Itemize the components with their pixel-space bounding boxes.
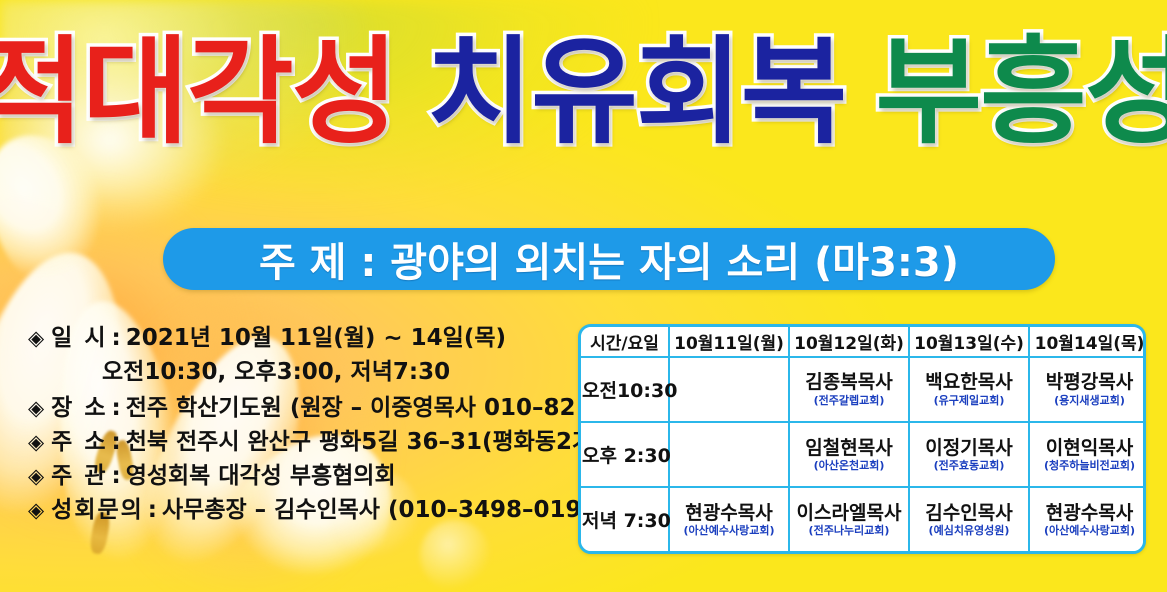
schedule-row: 오전10:30김종복목사(전주갈렙교회)백요한목사(유구제일교회)박평강목사(용…: [581, 357, 1146, 422]
title-word-healing-restoration: 치유회복: [426, 34, 845, 152]
speaker-block: 백요한목사(유구제일교회): [911, 372, 1027, 406]
speaker-church: (아산예수사랑교회): [1044, 525, 1135, 537]
info-separator: :: [111, 431, 120, 454]
schedule-row: 저녁 7:30현광수목사(아산예수사랑교회)이스라엘목사(전주나누리교회)김수인…: [581, 487, 1146, 551]
info-label: 주 관: [51, 465, 107, 488]
speaker-name: 김수인목사: [925, 503, 1012, 524]
info-line: ◈주 소:천북 전주시 완산구 평화5길 36–31(평화동2가 49–9): [28, 431, 573, 454]
speaker-name: 현광수목사: [1046, 503, 1133, 524]
info-separator: :: [148, 499, 157, 522]
info-label: 일 시: [51, 327, 107, 350]
speaker-block: 박평강목사(용지새생교회): [1031, 372, 1146, 406]
schedule-time-label: 오후 2:30: [582, 445, 671, 467]
speaker-block: 현광수목사(아산예수사랑교회): [671, 503, 787, 537]
info-separator: :: [111, 465, 120, 488]
subtitle-text: 주 제 : 광야의 외치는 자의 소리 (마3:3): [259, 230, 959, 288]
schedule-empty-cell: [671, 450, 787, 460]
revival-meeting-poster: 영적대각성 치유회복 부흥성회 주 제 : 광야의 외치는 자의 소리 (마3:…: [0, 0, 1167, 592]
info-line: ◈장 소:전주 학산기도원 (원장 – 이중영목사 010–8210–9911): [28, 397, 573, 420]
speaker-name: 이현익목사: [1046, 438, 1133, 459]
info-value: 사무총장 – 김수인목사 (010–3498–0191): [162, 499, 608, 522]
speaker-block: 임철현목사(아산온천교회): [791, 438, 907, 472]
diamond-bullet-icon: ◈: [28, 432, 44, 453]
diamond-bullet-icon: ◈: [28, 466, 44, 487]
speaker-church: (아산예수사랑교회): [683, 525, 774, 537]
info-label: 장 소: [51, 397, 107, 420]
info-value: 2021년 10월 11일(월) ~ 14일(목): [126, 327, 506, 350]
schedule-time-cell: 오후 2:30: [581, 422, 669, 487]
schedule-speaker-cell: 김종복목사(전주갈렙교회): [789, 357, 909, 422]
speaker-block: 이정기목사(전주효동교회): [911, 438, 1027, 472]
speaker-name: 김종복목사: [805, 372, 892, 393]
schedule-table: 시간/요일10월11일(월)10월12일(화)10월13일(수)10월14일(목…: [578, 324, 1146, 554]
title-word-revival-meeting: 부흥성회: [875, 34, 1167, 152]
schedule-column-header: 10월12일(화): [789, 327, 909, 357]
info-value: 오전10:30, 오후3:00, 저녁7:30: [102, 361, 450, 384]
info-separator: :: [111, 327, 120, 350]
schedule-column-header-label: 10월12일(화): [794, 334, 904, 354]
speaker-church: (예심치유영성원): [929, 525, 1010, 537]
schedule-speaker-cell: 김수인목사(예심치유영성원): [909, 487, 1029, 551]
speaker-block: 이스라엘목사(전주나누리교회): [791, 503, 907, 537]
schedule-column-header-label: 10월11일(월): [674, 334, 784, 354]
info-line: 오전10:30, 오후3:00, 저녁7:30: [28, 361, 573, 384]
schedule-column-header: 10월14일(목): [1029, 327, 1146, 357]
speaker-block: 김종복목사(전주갈렙교회): [791, 372, 907, 406]
speaker-name: 이스라엘목사: [797, 503, 902, 524]
info-label: 성회문의: [51, 499, 144, 522]
info-line: ◈일 시:2021년 10월 11일(월) ~ 14일(목): [28, 327, 573, 350]
speaker-block: 김수인목사(예심치유영성원): [911, 503, 1027, 537]
schedule-speaker-cell: 이스라엘목사(전주나누리교회): [789, 487, 909, 551]
schedule-speaker-cell: 박평강목사(용지새생교회): [1029, 357, 1146, 422]
speaker-name: 이정기목사: [925, 438, 1012, 459]
schedule-header-row: 시간/요일10월11일(월)10월12일(화)10월13일(수)10월14일(목…: [581, 327, 1146, 357]
schedule-grid: 시간/요일10월11일(월)10월12일(화)10월13일(수)10월14일(목…: [581, 327, 1146, 551]
speaker-name: 임철현목사: [805, 438, 892, 459]
subtitle-banner: 주 제 : 광야의 외치는 자의 소리 (마3:3): [163, 228, 1055, 290]
event-info-list: ◈일 시:2021년 10월 11일(월) ~ 14일(목)오전10:30, 오…: [28, 327, 573, 533]
speaker-name: 백요한목사: [925, 372, 1012, 393]
speaker-church: (청주하늘비전교회): [1044, 460, 1135, 472]
schedule-empty-cell: [671, 385, 787, 395]
info-label: 주 소: [51, 431, 107, 454]
diamond-bullet-icon: ◈: [28, 328, 44, 349]
schedule-speaker-cell: 현광수목사(아산예수사랑교회): [669, 487, 789, 551]
schedule-time-cell: 저녁 7:30: [581, 487, 669, 551]
info-line: ◈주 관:영성회복 대각성 부흥협의회: [28, 465, 573, 488]
schedule-time-label: 오전10:30: [582, 380, 677, 402]
speaker-name: 현광수목사: [685, 503, 772, 524]
speaker-church: (유구제일교회): [934, 395, 1005, 407]
speaker-church: (전주갈렙교회): [814, 395, 885, 407]
schedule-column-header: 시간/요일: [581, 327, 669, 357]
info-value: 영성회복 대각성 부흥협의회: [126, 465, 396, 488]
schedule-column-header-label: 10월14일(목): [1035, 334, 1145, 354]
schedule-body: 오전10:30김종복목사(전주갈렙교회)백요한목사(유구제일교회)박평강목사(용…: [581, 357, 1146, 551]
speaker-church: (전주나누리교회): [809, 525, 890, 537]
poster-title: 영적대각성 치유회복 부흥성회: [0, 34, 1167, 152]
schedule-column-header: 10월11일(월): [669, 327, 789, 357]
schedule-speaker-cell: 임철현목사(아산온천교회): [789, 422, 909, 487]
schedule-row: 오후 2:30임철현목사(아산온천교회)이정기목사(전주효동교회)이현익목사(청…: [581, 422, 1146, 487]
speaker-block: 이현익목사(청주하늘비전교회): [1031, 438, 1146, 472]
schedule-time-cell: 오전10:30: [581, 357, 669, 422]
schedule-column-header-label: 시간/요일: [590, 334, 659, 354]
speaker-block: 현광수목사(아산예수사랑교회): [1031, 503, 1146, 537]
diamond-bullet-icon: ◈: [28, 500, 44, 521]
schedule-speaker-cell: [669, 357, 789, 422]
diamond-bullet-icon: ◈: [28, 398, 44, 419]
speaker-church: (전주효동교회): [934, 460, 1005, 472]
speaker-church: (아산온천교회): [814, 460, 885, 472]
schedule-speaker-cell: 이현익목사(청주하늘비전교회): [1029, 422, 1146, 487]
schedule-time-label: 저녁 7:30: [582, 510, 671, 532]
schedule-column-header: 10월13일(수): [909, 327, 1029, 357]
schedule-head: 시간/요일10월11일(월)10월12일(화)10월13일(수)10월14일(목…: [581, 327, 1146, 357]
info-separator: :: [111, 397, 120, 420]
speaker-church: (용지새생교회): [1054, 395, 1125, 407]
speaker-name: 박평강목사: [1046, 372, 1133, 393]
schedule-speaker-cell: [669, 422, 789, 487]
info-line: ◈성회문의:사무총장 – 김수인목사 (010–3498–0191): [28, 499, 573, 522]
schedule-speaker-cell: 이정기목사(전주효동교회): [909, 422, 1029, 487]
title-word-spiritual-awakening: 영적대각성: [0, 34, 396, 152]
schedule-speaker-cell: 현광수목사(아산예수사랑교회): [1029, 487, 1146, 551]
schedule-speaker-cell: 백요한목사(유구제일교회): [909, 357, 1029, 422]
schedule-column-header-label: 10월13일(수): [914, 334, 1024, 354]
